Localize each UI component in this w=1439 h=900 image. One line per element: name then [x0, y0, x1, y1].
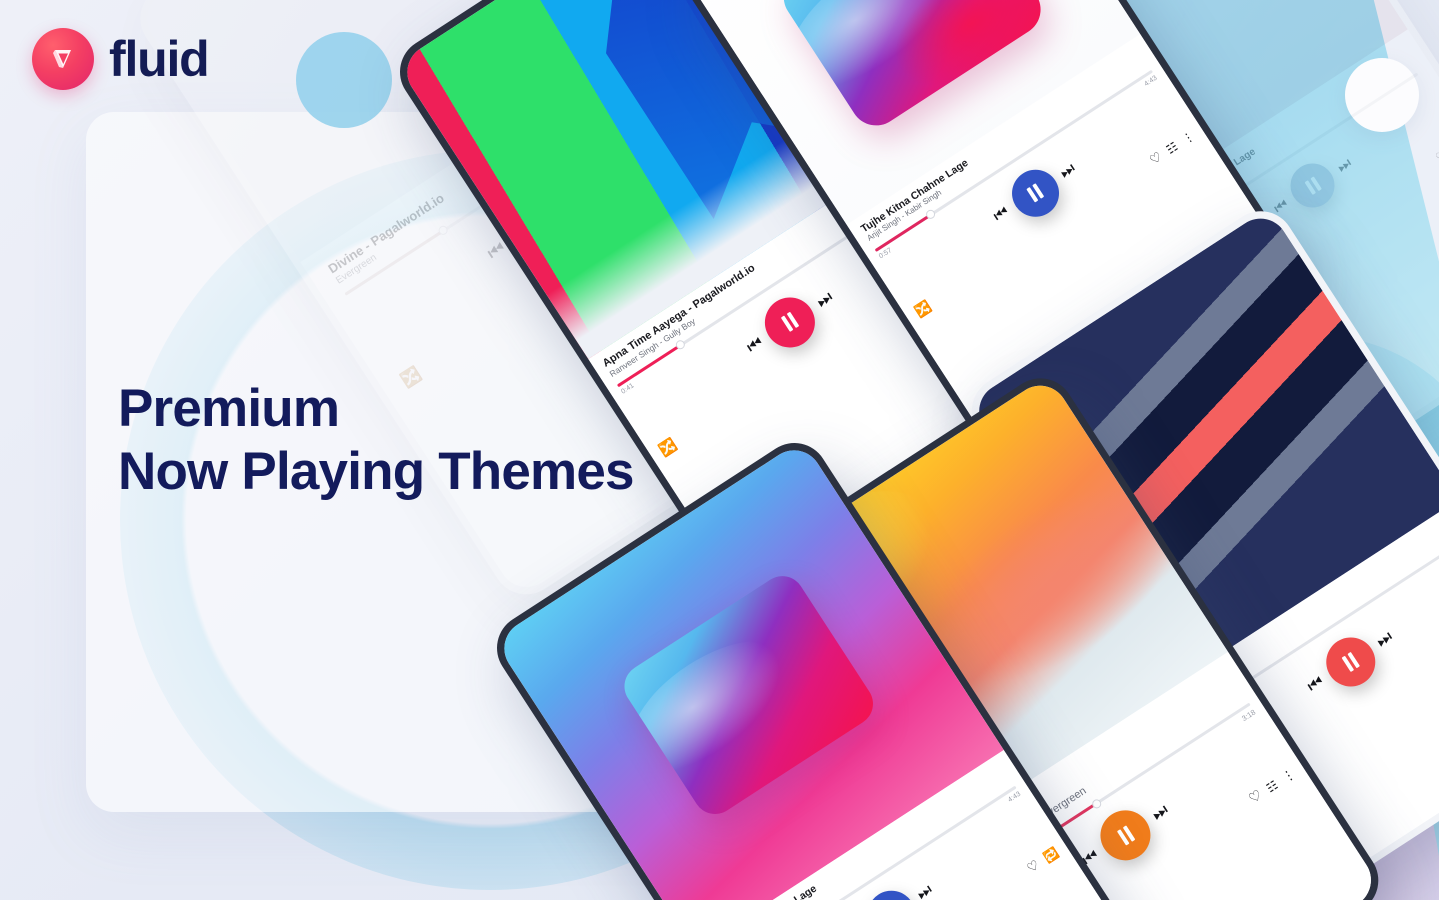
promo-canvas: Divine - Pagalworld.io Evergreen ⏮ ⏭ 🔀	[0, 0, 1439, 900]
skip-previous-icon[interactable]: ⏮	[1304, 672, 1328, 697]
page-title: Premium Now Playing Themes	[118, 378, 634, 503]
lyrics-icon[interactable]: ☷	[1164, 139, 1181, 157]
more-options-icon[interactable]: ⋮	[1179, 128, 1197, 146]
skip-next-icon[interactable]: ⏭	[914, 881, 936, 900]
heart-icon[interactable]: ♡	[1433, 147, 1439, 167]
skip-next-icon[interactable]: ⏭	[1057, 160, 1079, 183]
play-triangle-logo-icon	[32, 28, 94, 90]
brand-lockup: fluid	[32, 28, 209, 90]
heart-icon[interactable]: ♡	[1246, 787, 1266, 808]
shuffle-icon[interactable]: 🔀	[912, 298, 934, 320]
heart-icon[interactable]: ♡	[1024, 857, 1042, 877]
skip-previous-icon[interactable]: ⏮	[743, 332, 767, 357]
play-pause-button[interactable]	[1282, 155, 1343, 216]
headline-line-1: Premium	[118, 378, 634, 441]
skip-previous-icon[interactable]: ⏮	[991, 203, 1013, 226]
skip-next-icon[interactable]: ⏭	[1334, 154, 1355, 176]
repeat-icon[interactable]: 🔁	[1041, 845, 1061, 865]
more-options-icon[interactable]: ⋮	[1279, 765, 1299, 785]
headline-line-2: Now Playing Themes	[118, 441, 634, 504]
skip-next-icon[interactable]: ⏭	[813, 287, 837, 312]
skip-next-icon[interactable]: ⏭	[1149, 800, 1173, 825]
brand-name: fluid	[109, 34, 209, 84]
heart-icon[interactable]: ♡	[1147, 148, 1165, 168]
skip-next-icon[interactable]: ⏭	[1373, 627, 1397, 652]
lyrics-icon[interactable]: ☷	[1264, 778, 1281, 796]
shuffle-icon[interactable]: 🔀	[656, 435, 680, 459]
